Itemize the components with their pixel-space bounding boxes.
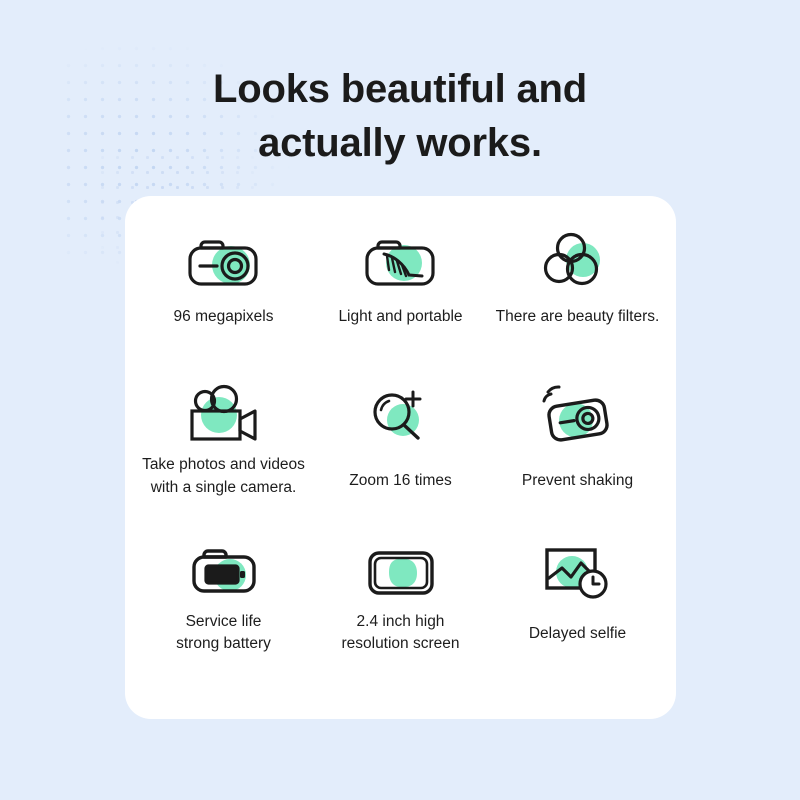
page-title: Looks beautiful and actually works.	[0, 62, 800, 171]
feature-item-megapixels: 96 megapixels	[135, 222, 312, 380]
feature-item-beauty-filters: There are beauty filters.	[489, 222, 666, 380]
magnifier-plus-icon	[365, 380, 437, 452]
feature-caption: 2.4 inch high resolution screen	[341, 611, 459, 656]
feature-caption: Prevent shaking	[522, 470, 633, 492]
page-title-line-1: Looks beautiful and	[0, 62, 800, 116]
feature-item-portable: Light and portable	[312, 222, 489, 380]
feature-caption: Zoom 16 times	[349, 470, 452, 492]
feature-item-prevent-shaking: Prevent shaking	[489, 380, 666, 538]
feature-item-screen: 2.4 inch high resolution screen	[312, 539, 489, 697]
page-title-line-2: actually works.	[0, 116, 800, 170]
feature-card: 96 megapixels Light and portable	[125, 196, 676, 719]
video-camera-icon	[181, 380, 267, 452]
screen-icon	[362, 539, 440, 605]
camera-feather-icon	[360, 222, 442, 298]
three-circles-icon	[541, 222, 615, 298]
feature-item-zoom: Zoom 16 times	[312, 380, 489, 538]
feature-caption: 96 megapixels	[174, 306, 274, 328]
feature-caption: There are beauty filters.	[496, 306, 660, 328]
camera-shake-icon	[536, 380, 620, 452]
feature-item-photos-videos: Take photos and videos with a single cam…	[135, 380, 312, 538]
feature-item-delayed-selfie: Delayed selfie	[489, 539, 666, 697]
feature-caption: Light and portable	[338, 306, 462, 328]
camera-battery-icon	[185, 539, 263, 605]
feature-caption: Delayed selfie	[529, 623, 626, 645]
feature-caption: Take photos and videos with a single cam…	[142, 454, 305, 499]
feature-grid: 96 megapixels Light and portable	[125, 196, 676, 719]
camera-lens-icon	[183, 222, 265, 298]
feature-item-battery: Service life strong battery	[135, 539, 312, 697]
photo-clock-icon	[538, 539, 618, 605]
feature-caption: Service life strong battery	[176, 611, 271, 656]
